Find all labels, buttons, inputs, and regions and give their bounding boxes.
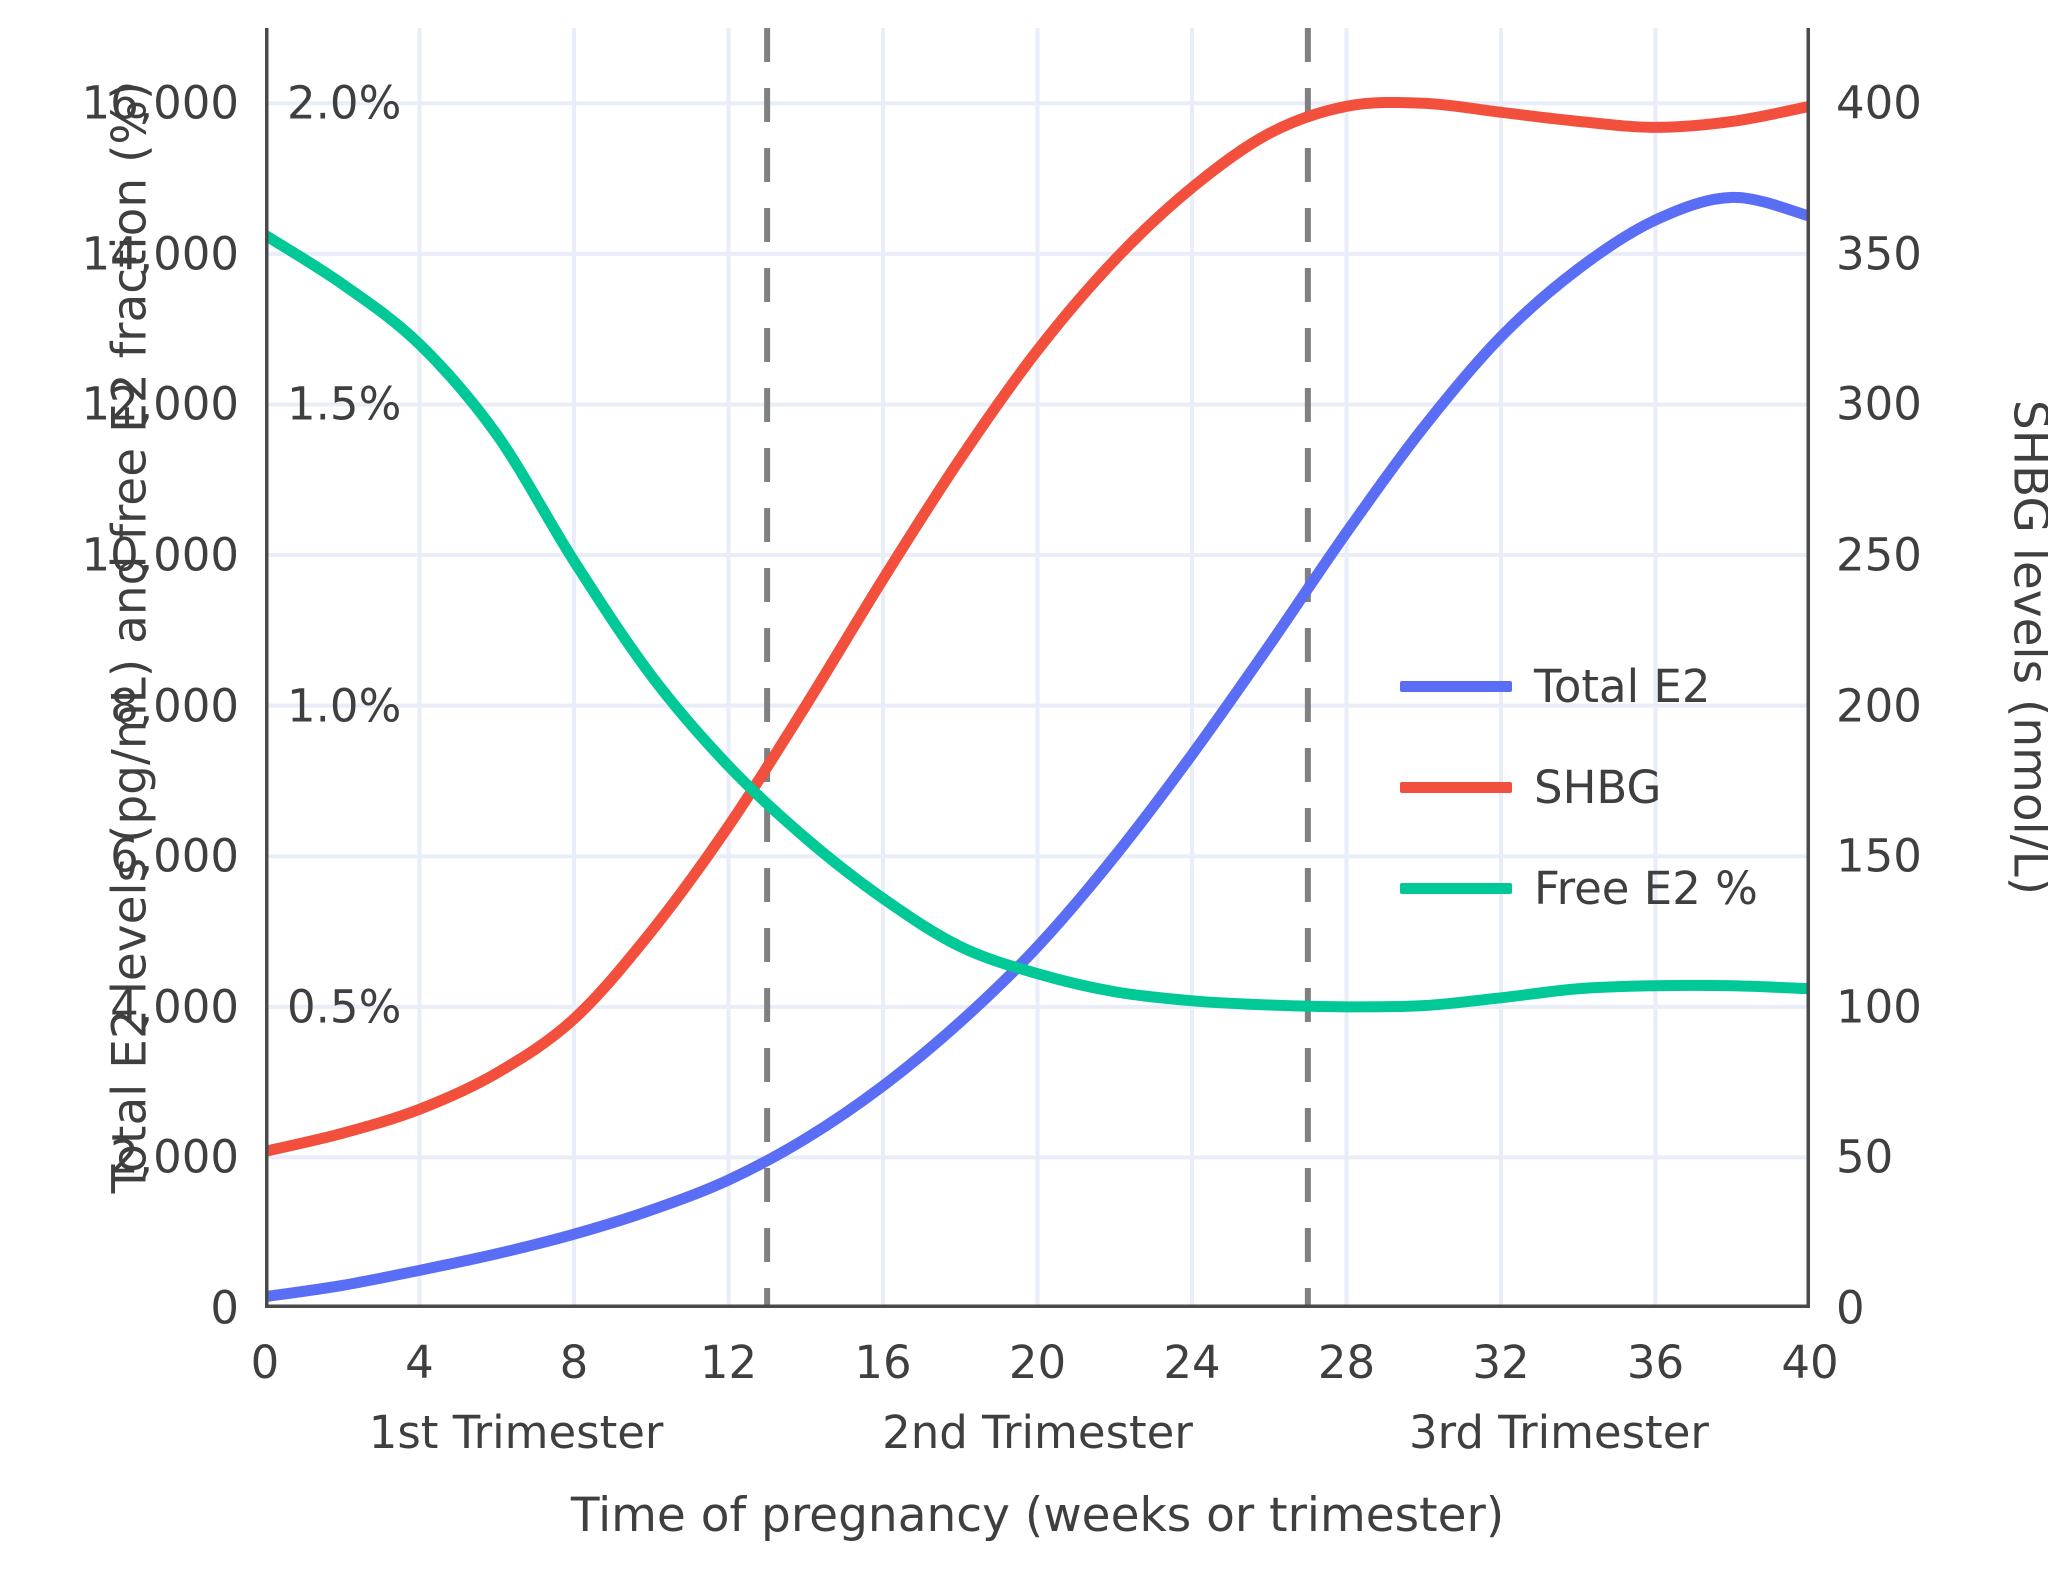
y-axis-right-tick-label: 250	[1836, 529, 1922, 582]
legend-color-swatch	[1400, 782, 1512, 793]
y-axis-left-tick-label: 10,000	[82, 529, 239, 582]
y-axis-left-title: Total E2 levels (pg/mL) and free E2 frac…	[103, 38, 158, 1238]
y-axis-left-tick-label: 6,000	[110, 830, 239, 883]
y-axis-right-tick-label: 350	[1836, 227, 1922, 280]
y-axis-right-tick-label: 300	[1836, 378, 1922, 431]
y-axis-left-tick-label: 0	[210, 1282, 239, 1335]
trimester-label: 2nd Trimester	[882, 1406, 1193, 1459]
x-axis-tick-label: 8	[560, 1336, 589, 1389]
y-axis-right-tick-label: 400	[1836, 77, 1922, 130]
legend-label: Free E2 %	[1534, 862, 1758, 915]
y-axis-left-tick-label: 4,000	[110, 980, 239, 1033]
trimester-label: 1st Trimester	[369, 1406, 664, 1459]
legend-item[interactable]: Total E2	[1400, 660, 1758, 713]
x-axis-tick-label: 4	[405, 1336, 434, 1389]
x-axis-title: Time of pregnancy (weeks or trimester)	[265, 1488, 1810, 1543]
y-axis-right-tick-label: 200	[1836, 679, 1922, 732]
x-axis-tick-label: 12	[700, 1336, 757, 1389]
x-axis-tick-label: 36	[1627, 1336, 1684, 1389]
x-axis-tick-label: 40	[1781, 1336, 1838, 1389]
trimester-label: 3rd Trimester	[1409, 1406, 1709, 1459]
x-axis-tick-label: 16	[854, 1336, 911, 1389]
y-axis-right-tick-label: 50	[1836, 1131, 1893, 1184]
legend-label: SHBG	[1534, 761, 1661, 814]
y-axis-left-tick-label: 8,000	[110, 679, 239, 732]
x-axis-tick-label: 32	[1472, 1336, 1529, 1389]
y-axis-left-tick-label: 2,000	[110, 1131, 239, 1184]
y-axis-right-tick-label: 100	[1836, 980, 1922, 1033]
chart-root: Total E2 levels (pg/mL) and free E2 frac…	[0, 0, 2048, 1582]
percent-annotation: 1.0%	[287, 679, 401, 732]
percent-annotation: 2.0%	[287, 77, 401, 130]
y-axis-right-tick-label: 0	[1836, 1282, 1865, 1335]
y-axis-left-tick-label: 12,000	[82, 378, 239, 431]
y-axis-right-tick-label: 150	[1836, 830, 1922, 883]
legend-label: Total E2	[1534, 660, 1710, 713]
legend-item[interactable]: Free E2 %	[1400, 862, 1758, 915]
y-axis-right-title: SHBG levels (nmol/L)	[2003, 148, 2048, 1148]
legend-item[interactable]: SHBG	[1400, 761, 1758, 814]
x-axis-tick-label: 24	[1163, 1336, 1220, 1389]
x-axis-tick-label: 28	[1318, 1336, 1375, 1389]
legend-color-swatch	[1400, 681, 1512, 692]
percent-annotation: 0.5%	[287, 980, 401, 1033]
x-axis-tick-label: 20	[1009, 1336, 1066, 1389]
percent-annotation: 1.5%	[287, 378, 401, 431]
chart-legend: Total E2SHBGFree E2 %	[1400, 660, 1758, 915]
y-axis-left-tick-label: 16,000	[82, 77, 239, 130]
legend-color-swatch	[1400, 883, 1512, 894]
x-axis-tick-label: 0	[251, 1336, 280, 1389]
y-axis-left-tick-label: 14,000	[82, 227, 239, 280]
